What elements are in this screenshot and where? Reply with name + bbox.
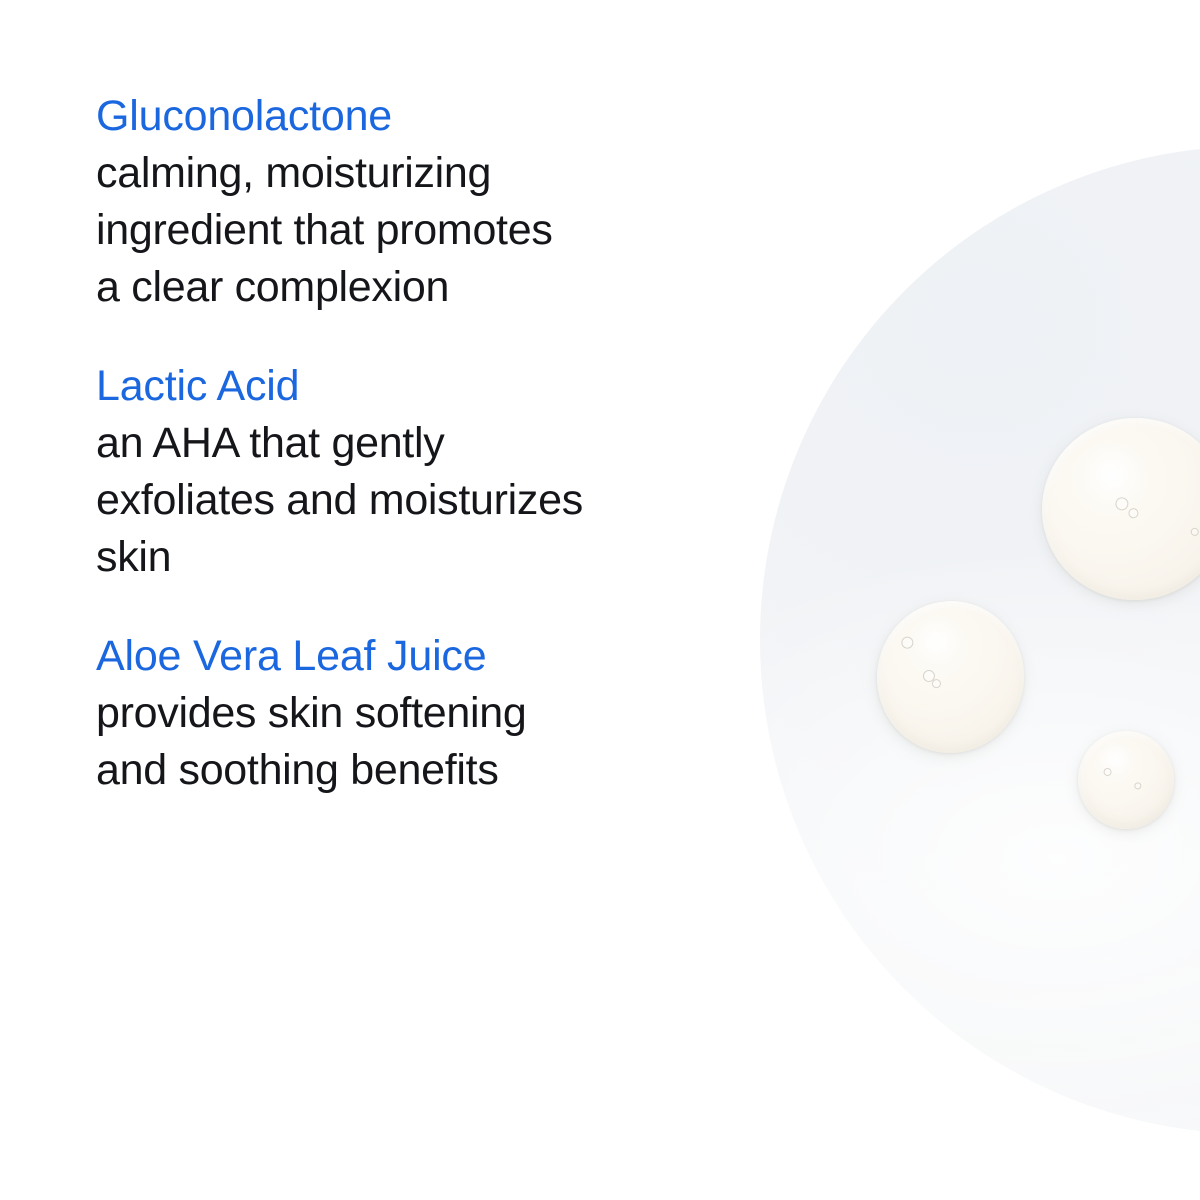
- description-line: ingredient that promotes: [96, 202, 696, 259]
- ingredient-description: an AHA that gently exfoliates and moistu…: [96, 415, 696, 586]
- droplet-bubble: [901, 636, 915, 650]
- petri-dish-reflection-arc: [768, 154, 1200, 1126]
- petri-dish-interior: [760, 146, 1200, 1134]
- description-line: calming, moisturizing: [96, 145, 696, 202]
- ingredient-item: Lactic Acid an AHA that gently exfoliate…: [96, 358, 696, 586]
- ingredient-description: calming, moisturizing ingredient that pr…: [96, 145, 696, 316]
- droplet-body: [867, 592, 1034, 763]
- droplet-bubble: [922, 669, 936, 683]
- serum-droplet-large: [1033, 409, 1200, 609]
- droplet-highlight: [903, 615, 971, 669]
- petri-dish-sheen: [760, 146, 1200, 1134]
- product-ingredient-infographic: Gluconolactone calming, moisturizing ing…: [0, 0, 1200, 1200]
- petri-dish-outer-rim: [722, 108, 1200, 1172]
- droplet-bubble: [1103, 768, 1111, 776]
- ingredient-name-aloe-vera-leaf-juice: Aloe Vera Leaf Juice: [96, 628, 696, 685]
- droplet-body: [1033, 409, 1200, 609]
- description-line: an AHA that gently: [96, 415, 696, 472]
- ingredient-name-lactic-acid: Lactic Acid: [96, 358, 696, 415]
- ingredient-list: Gluconolactone calming, moisturizing ing…: [96, 88, 696, 799]
- droplet-bubble: [1190, 527, 1199, 536]
- droplet-bubble: [1134, 782, 1141, 789]
- description-line: provides skin softening: [96, 685, 696, 742]
- ingredient-item: Aloe Vera Leaf Juice provides skin softe…: [96, 628, 696, 799]
- ingredient-name-gluconolactone: Gluconolactone: [96, 88, 696, 145]
- serum-droplet-medium: [867, 592, 1034, 763]
- droplet-edge: [867, 592, 1034, 763]
- droplet-edge: [1033, 409, 1200, 609]
- description-line: a clear complexion: [96, 259, 696, 316]
- droplet-bubble: [931, 679, 941, 689]
- petri-dish-rim-highlight: [722, 108, 1200, 1172]
- ingredient-description: provides skin softening and soothing ben…: [96, 685, 696, 799]
- description-line: skin: [96, 529, 696, 586]
- droplet-bubble: [1115, 497, 1129, 511]
- description-line: and soothing benefits: [96, 742, 696, 799]
- ingredient-item: Gluconolactone calming, moisturizing ing…: [96, 88, 696, 316]
- droplet-bubble: [1128, 508, 1139, 519]
- droplet-highlight: [1070, 442, 1156, 508]
- petri-dish-inner-ring: [752, 138, 1200, 1142]
- droplet-edge: [1076, 729, 1177, 832]
- description-line: exfoliates and moisturizes: [96, 472, 696, 529]
- serum-droplet-small: [1076, 729, 1177, 832]
- droplet-body: [1076, 729, 1177, 832]
- droplet-highlight: [1092, 742, 1138, 776]
